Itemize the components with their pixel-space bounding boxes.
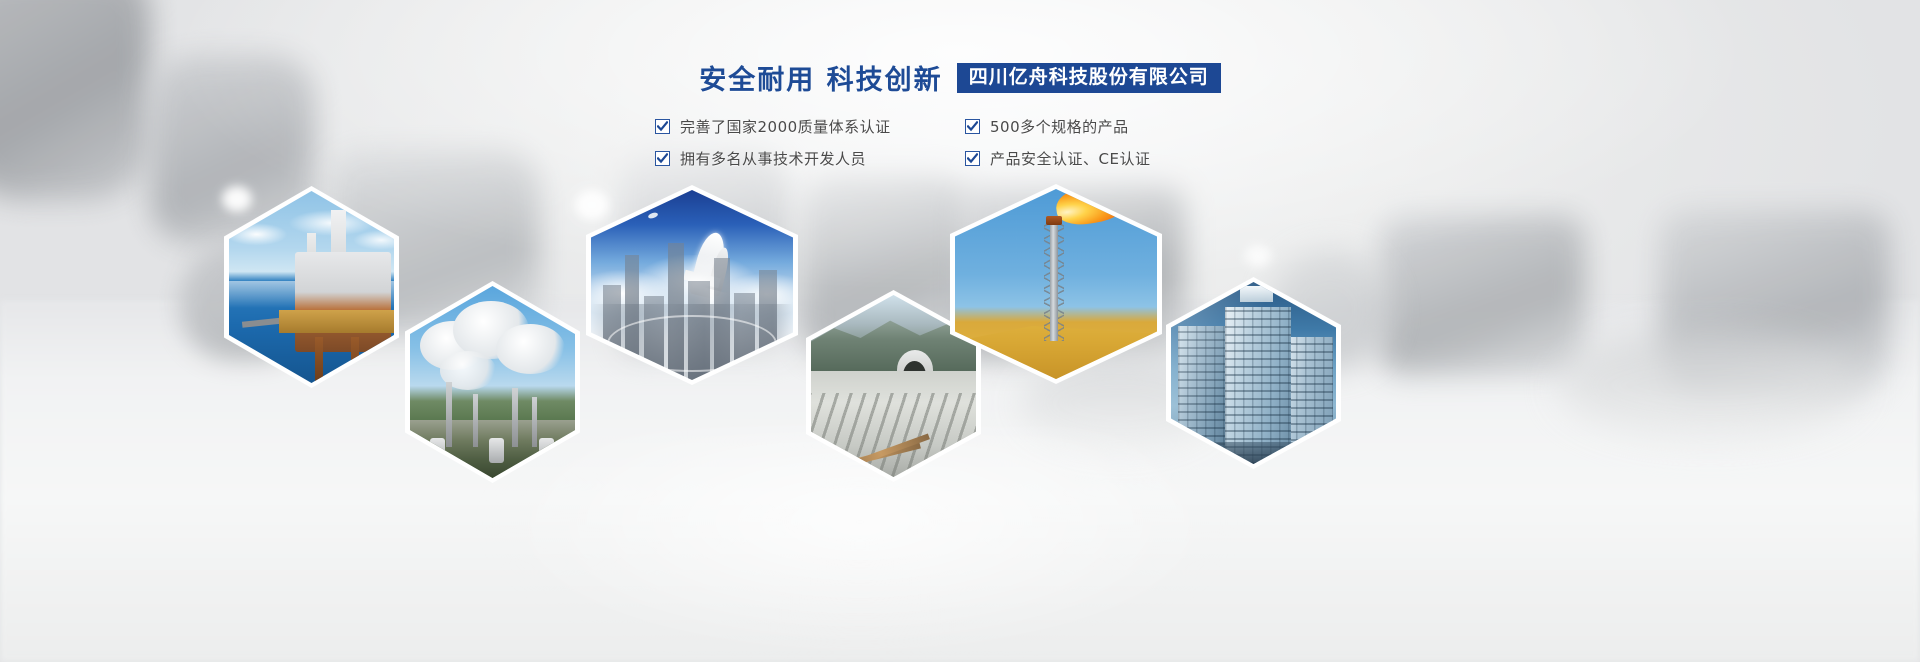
check-icon	[965, 119, 980, 134]
feature-label: 完善了国家2000质量体系认证	[680, 116, 891, 137]
check-icon	[965, 151, 980, 166]
feature-item-2: 500多个规格的产品	[965, 110, 1265, 142]
feature-list: 完善了国家2000质量体系认证 500多个规格的产品 拥有多名从事技术开发人员	[0, 110, 1920, 174]
feature-label: 产品安全认证、CE认证	[990, 148, 1150, 169]
feature-item-3: 拥有多名从事技术开发人员	[655, 142, 955, 174]
check-icon	[655, 151, 670, 166]
banner-slogan: 安全耐用 科技创新	[699, 58, 942, 97]
feature-item-4: 产品安全认证、CE认证	[965, 142, 1265, 174]
feature-label: 500多个规格的产品	[990, 116, 1129, 137]
company-name-badge: 四川亿舟科技股份有限公司	[957, 63, 1221, 93]
feature-label: 拥有多名从事技术开发人员	[680, 148, 866, 169]
banner-headline: 安全耐用 科技创新 四川亿舟科技股份有限公司	[0, 58, 1920, 97]
check-icon	[655, 119, 670, 134]
background-paper-glare	[480, 430, 1240, 660]
feature-item-1: 完善了国家2000质量体系认证	[655, 110, 955, 142]
promo-banner: 安全耐用 科技创新 四川亿舟科技股份有限公司 完善了国家2000质量体系认证	[0, 0, 1920, 662]
